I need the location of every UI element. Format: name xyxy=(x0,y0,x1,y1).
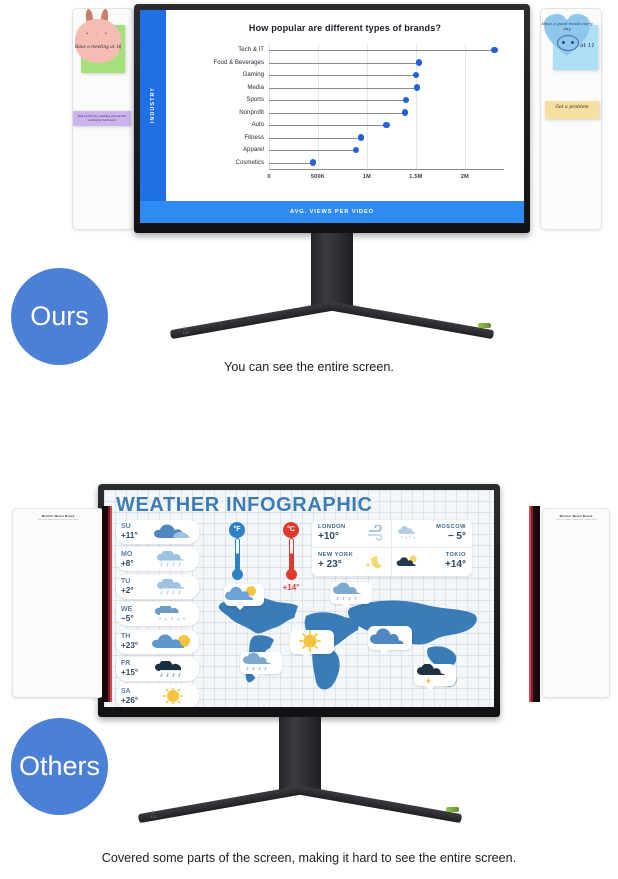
chart-category-label: Apparel xyxy=(166,144,269,157)
weather-day-list: SU+11°MO+8°TU+2°WE−5°TH+23°FR+15°SA+26° xyxy=(116,520,199,707)
chart-plot-area xyxy=(269,44,504,169)
chart-data-row xyxy=(269,82,504,95)
weather-day-temp: +15° xyxy=(121,669,151,677)
chart-data-point[interactable] xyxy=(416,59,423,66)
caption-others: Covered some parts of the screen, making… xyxy=(0,851,618,865)
foot-arm-right xyxy=(327,301,494,339)
memo-board-right-ours: Call Jim at 11 Get a problem Have a good… xyxy=(540,8,602,230)
city-card: NEW YORK + 23° xyxy=(312,548,392,576)
chart-stem xyxy=(269,150,356,151)
foot-accent-icon xyxy=(478,323,491,328)
weather-title: WEATHER INFOGRAPHIC xyxy=(116,494,373,517)
industry-sidebar: INDUSTRY xyxy=(140,10,166,201)
chart-x-tick-label: 500K xyxy=(311,174,325,180)
chart-data-point[interactable] xyxy=(414,84,421,91)
memo-occluder-left xyxy=(102,506,112,702)
chart-category-label: Sports xyxy=(166,94,269,107)
thermometer: °F+57.2° xyxy=(216,522,258,592)
occluder-thin-strip xyxy=(110,506,112,702)
weather-day-name: WE xyxy=(121,606,151,613)
chart-stem xyxy=(269,50,494,51)
storm-icon xyxy=(414,664,454,684)
occluder-dark-strip xyxy=(533,506,540,702)
world-map xyxy=(202,586,492,698)
weather-slide: WEATHER INFOGRAPHIC SU+11°MO+8°TU+2°WE−5… xyxy=(104,490,494,707)
chart-container: How popular are different types of brand… xyxy=(166,10,524,201)
night-cloud-icon xyxy=(396,554,422,569)
memo-board-label: Monitor Memo Board xyxy=(543,514,609,518)
chart-stem xyxy=(269,163,313,164)
thermometer-tube xyxy=(289,538,294,572)
city-card: TOKIO +14° xyxy=(392,548,472,576)
monitor-stand-neck-others xyxy=(279,717,321,793)
rabbit-body-icon xyxy=(75,19,121,63)
chart-category-label: Cosmetics xyxy=(166,157,269,170)
chart-x-tick-label: 1.5M xyxy=(409,174,422,180)
chart-data-row xyxy=(269,119,504,132)
memo-board-label: Monitor Memo Board xyxy=(13,514,103,518)
chart-footer-bar: AVG. VIEWS PER VIDEO xyxy=(140,201,524,223)
sticky-note-heart-text: Have a good mood every day xyxy=(541,21,593,32)
map-bubble xyxy=(368,626,412,650)
snow-icon xyxy=(152,606,194,622)
weather-day-name: TU xyxy=(121,578,151,585)
monitor-stand-neck-ours xyxy=(311,233,353,309)
chart-stem xyxy=(269,88,417,89)
foot-arm-left xyxy=(170,301,337,339)
chart-footer-label: AVG. VIEWS PER VIDEO xyxy=(290,209,374,215)
chart-x-tick-label: 1M xyxy=(363,174,371,180)
chart-slide: INDUSTRY How popular are different types… xyxy=(140,10,524,223)
chart-data-point[interactable] xyxy=(358,134,365,141)
sticky-note-yellow-text: Get a problem xyxy=(545,105,599,111)
lg-logo-icon: ◎ LG xyxy=(183,325,189,335)
chart-stem xyxy=(269,100,406,101)
map-bubble xyxy=(240,652,282,674)
weather-day-card[interactable]: TU+2° xyxy=(116,575,199,599)
chart-category-label: Fitness xyxy=(166,132,269,145)
badge-ours-label: Ours xyxy=(30,301,89,332)
chart-data-row xyxy=(269,94,504,107)
chart-data-row xyxy=(269,107,504,120)
chart-category-label: Media xyxy=(166,82,269,95)
storm-icon xyxy=(152,661,194,677)
cloud-icon xyxy=(368,626,410,648)
chart-data-row xyxy=(269,57,504,70)
weather-day-temp: −5° xyxy=(121,615,151,623)
foot-arm-left xyxy=(138,785,305,823)
industry-sidebar-label: INDUSTRY xyxy=(150,87,156,123)
city-card: MOSCOW − 5° xyxy=(392,520,472,548)
memo-board-right-others: Monitor Memo Board Keep Your Notes Where… xyxy=(542,508,610,698)
foot-accent-icon xyxy=(446,807,459,812)
comparison-section-ours: Valentine Pick up the dry cleaning and c… xyxy=(0,0,618,440)
chart-x-tick-label: 2M xyxy=(461,174,469,180)
monitor-screen-ours: INDUSTRY How popular are different types… xyxy=(140,10,524,223)
chart-data-point[interactable] xyxy=(310,159,317,166)
city-card: LONDON +10° xyxy=(312,520,392,548)
lg-logo-icon: ◎ LG xyxy=(151,809,157,819)
weather-day-name: SU xyxy=(121,523,151,530)
chart-x-tick-label: 0 xyxy=(267,174,270,180)
chart-data-point[interactable] xyxy=(402,109,409,116)
thermometer-bulb xyxy=(232,569,243,580)
weather-city-panel: LONDON +10° MOSCOW − 5° xyxy=(312,520,472,576)
weather-day-card[interactable]: SU+11° xyxy=(116,520,199,544)
map-bubble xyxy=(290,630,334,654)
sun-icon xyxy=(290,630,332,652)
cloud-icon xyxy=(152,524,194,540)
chart-data-row xyxy=(269,157,504,170)
sun-icon xyxy=(152,688,194,704)
chart-data-point[interactable] xyxy=(413,72,420,79)
chart-data-point[interactable] xyxy=(403,97,410,104)
chart-data-row xyxy=(269,69,504,82)
memo-board-left-ours: Valentine Pick up the dry cleaning and c… xyxy=(72,8,134,230)
wind-icon xyxy=(366,525,386,541)
chart-title: How popular are different types of brand… xyxy=(166,23,524,33)
weather-day-temp: +11° xyxy=(121,532,151,540)
memo-board-sublabel: Keep Your Notes Where You Can See Them xyxy=(543,519,609,521)
badge-others-label: Others xyxy=(19,751,100,782)
chart-data-row xyxy=(269,132,504,145)
chart-data-row xyxy=(269,144,504,157)
thermometer: °C+14° xyxy=(270,522,312,592)
moon-icon xyxy=(364,554,386,570)
weather-day-name: MO xyxy=(121,551,151,558)
weather-day-card[interactable]: WE−5° xyxy=(116,602,199,626)
thermometer-bulb xyxy=(286,569,297,580)
weather-day-temp: +26° xyxy=(121,697,151,705)
sun-cloud-icon xyxy=(224,584,262,604)
sticky-note-rabbit-text: Have a meeting at 16 xyxy=(73,45,123,50)
chart-stem xyxy=(269,138,361,139)
weather-day-card[interactable]: MO+8° xyxy=(116,547,199,571)
weather-day-card[interactable]: FR+15° xyxy=(116,657,199,681)
map-bubble xyxy=(224,584,264,606)
weather-day-name: TH xyxy=(121,633,151,640)
memo-occluder-right xyxy=(529,506,540,702)
chart-category-labels: Tech & ITFood & BeveragesGamingMediaSpor… xyxy=(166,44,269,169)
monitor-screen-others: WEATHER INFOGRAPHIC SU+11°MO+8°TU+2°WE−5… xyxy=(104,490,494,707)
heart-face-icon xyxy=(557,35,579,51)
chart-category-label: Auto xyxy=(166,119,269,132)
thermometer-unit-badge: °F xyxy=(229,522,245,538)
map-bubble xyxy=(330,582,372,604)
sticky-note-purple: Pick up the dry cleaning and call the co… xyxy=(73,111,131,126)
weather-day-name: FR xyxy=(121,660,151,667)
chart-data-point[interactable] xyxy=(491,47,498,54)
chart-data-point[interactable] xyxy=(383,122,390,129)
foot-arm-right xyxy=(295,785,462,823)
weather-day-card[interactable]: TH+23° xyxy=(116,630,199,654)
rain-icon xyxy=(152,579,194,595)
weather-day-temp: +2° xyxy=(121,587,151,595)
weather-day-card[interactable]: SA+26° xyxy=(116,684,199,707)
chart-category-label: Food & Beverages xyxy=(166,57,269,70)
memo-board-left-others: Monitor Memo Board Keep Your Notes Where… xyxy=(12,508,104,698)
chart-stem xyxy=(269,113,405,114)
rain-icon xyxy=(240,652,280,672)
weather-day-temp: +23° xyxy=(121,642,151,650)
chart-plot-wrap: Tech & ITFood & BeveragesGamingMediaSpor… xyxy=(166,44,524,193)
chart-data-point[interactable] xyxy=(353,147,360,154)
snow-icon xyxy=(397,525,421,540)
sticky-note-purple-text: Pick up the dry cleaning and call the co… xyxy=(73,115,131,123)
thermometer-unit-badge: °C xyxy=(283,522,299,538)
rabbit-face-icon: • ᵕ • xyxy=(73,31,123,37)
rain-icon xyxy=(152,551,194,567)
thermometer-tube xyxy=(235,538,240,572)
chart-stem xyxy=(269,63,419,64)
sun-cloud-icon xyxy=(152,634,194,650)
badge-ours: Ours xyxy=(11,268,108,365)
weather-day-temp: +8° xyxy=(121,560,151,568)
chart-x-tick-labels: 0500K1M1.5M2M xyxy=(269,174,504,188)
chart-x-axis xyxy=(269,169,504,170)
chart-category-label: Tech & IT xyxy=(166,44,269,57)
chart-data-row xyxy=(269,44,504,57)
chart-category-label: Gaming xyxy=(166,69,269,82)
comparison-section-others: WEATHER INFOGRAPHIC SU+11°MO+8°TU+2°WE−5… xyxy=(0,440,618,879)
sticky-note-yellow: Get a problem xyxy=(545,101,599,119)
rain-icon xyxy=(330,582,370,602)
map-bubble xyxy=(414,664,456,686)
caption-ours: You can see the entire screen. xyxy=(0,360,618,374)
chart-category-label: Nonprofit xyxy=(166,107,269,120)
weather-day-name: SA xyxy=(121,688,151,695)
badge-others: Others xyxy=(11,718,108,815)
memo-board-sublabel: Keep Your Notes Where You Can See Them xyxy=(13,519,103,521)
chart-stem xyxy=(269,75,416,76)
chart-stem xyxy=(269,125,387,126)
